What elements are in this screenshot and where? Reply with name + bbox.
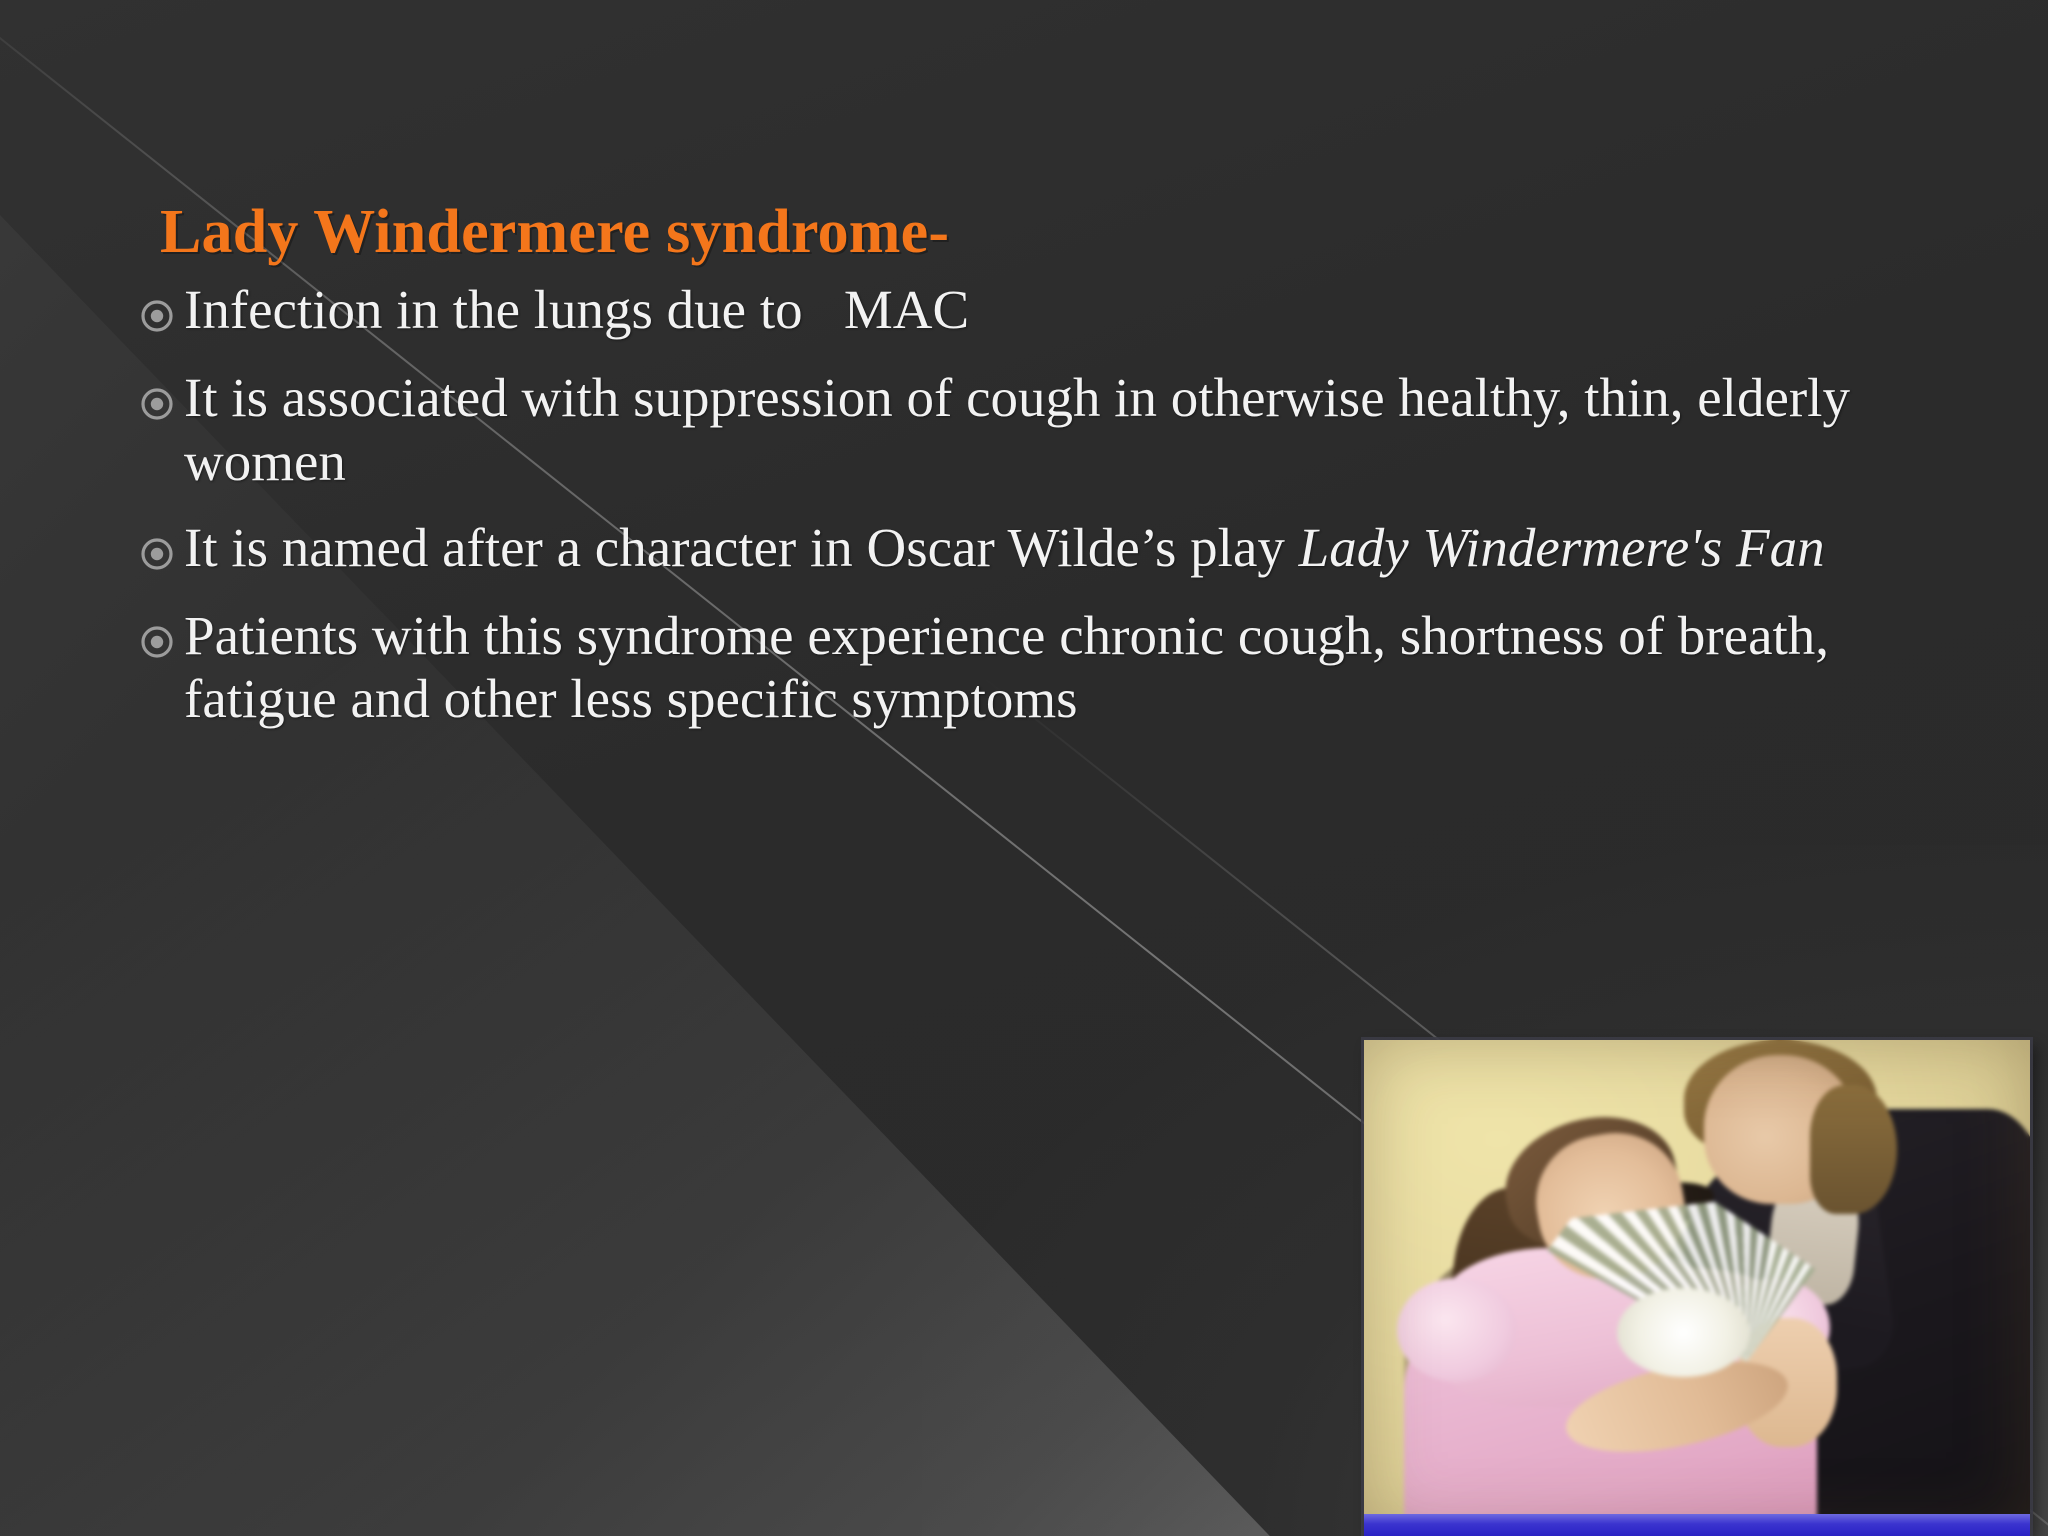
bullet-text: It is named after a character in Oscar W…	[184, 516, 1930, 580]
slide-title: Lady Windermere syndrome-	[160, 200, 949, 265]
bullet-list-item: Patients with this syndrome experience c…	[130, 604, 1930, 732]
photo-bottom-blue-bar	[1364, 1514, 2030, 1536]
bullet-list-item: It is associated with suppression of cou…	[130, 366, 1930, 494]
circled-dot-bullet-icon	[130, 614, 184, 670]
bullet-text: It is associated with suppression of cou…	[184, 366, 1930, 494]
lady-windermeres-fan-play-photo	[1364, 1040, 2030, 1536]
bullet-list-item: It is named after a character in Oscar W…	[130, 516, 1930, 582]
photo-canvas	[1364, 1040, 2030, 1536]
bullet-text: Patients with this syndrome experience c…	[184, 604, 1930, 732]
presentation-slide: Lady Windermere syndrome- Infection in t…	[0, 0, 2048, 1536]
bullet-list: Infection in the lungs due to MAC It is …	[130, 278, 1930, 753]
circled-dot-bullet-icon	[130, 526, 184, 582]
circled-dot-bullet-icon	[130, 288, 184, 344]
bullet-text: Infection in the lungs due to MAC	[184, 278, 1930, 342]
photo-lace-fan-rim	[1617, 1288, 1750, 1377]
bullet-list-item: Infection in the lungs due to MAC	[130, 278, 1930, 344]
circled-dot-bullet-icon	[130, 376, 184, 432]
bullet-text-italic-title: Lady Windermere's Fan	[1299, 517, 1825, 578]
photo-woman-sleeve-left	[1397, 1278, 1517, 1382]
photo-man-hair-side	[1810, 1085, 1897, 1214]
